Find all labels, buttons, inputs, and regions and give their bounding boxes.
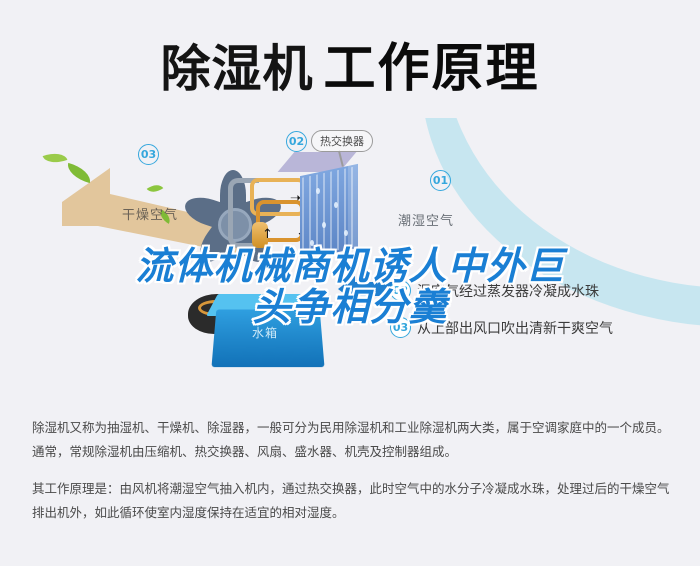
water-tank-label: 水箱 [252, 324, 278, 341]
water-droplet-icon [334, 202, 338, 208]
process-step-item: 02 湿空气经过蒸发器冷凝成水珠 [390, 280, 690, 301]
badge-02: 02 [286, 131, 307, 152]
diagram-label-02: 02热交换器 [286, 130, 373, 152]
badge-step: 02 [390, 280, 411, 301]
process-step-item: 03 从上部出风口吹出清新干爽空气 [390, 317, 690, 338]
page-root: 除湿机工作原理 [0, 0, 700, 566]
water-droplet-icon [310, 240, 314, 246]
badge-03: 03 [138, 144, 159, 165]
heat-exchanger-callout: 热交换器 [311, 130, 373, 152]
paragraph-principle: 其工作原理是：由风机将潮湿空气抽入机内，通过热交换器，此时空气中的水分子冷凝成水… [32, 477, 672, 526]
diagram-label-01: 01 [430, 170, 451, 191]
flow-arrow-up-icon: ↑ [262, 228, 273, 241]
water-droplet-icon [322, 222, 326, 228]
paragraph-definition: 除湿机又称为抽湿机、干燥机、除湿器，一般可分为民用除湿机和工业除湿机两大类，属于… [32, 416, 672, 465]
process-step-list: 02 湿空气经过蒸发器冷凝成水珠 03 从上部出风口吹出清新干爽空气 [390, 280, 690, 354]
water-droplet-icon [344, 230, 348, 236]
page-title: 除湿机工作原理 [0, 26, 700, 101]
title-part-1: 除湿机 [160, 40, 313, 98]
dehumidifier-diagram: ➝ ↑ ↓ 水箱 03 02热交换器 01 干燥空气 潮湿空气 [0, 118, 700, 408]
water-droplet-icon [316, 188, 320, 194]
article-body: 除湿机又称为抽湿机、干燥机、除湿器，一般可分为民用除湿机和工业除湿机两大类，属于… [32, 416, 672, 538]
diagram-label-03: 03 [138, 144, 159, 165]
process-step-label: 湿空气经过蒸发器冷凝成水珠 [417, 281, 599, 301]
moist-air-text: 潮湿空气 [398, 210, 454, 229]
process-step-label: 从上部出风口吹出清新干爽空气 [417, 318, 613, 338]
dry-air-text: 干燥空气 [122, 204, 178, 223]
badge-01: 01 [430, 170, 451, 191]
badge-step: 03 [390, 317, 411, 338]
title-part-2: 工作原理 [323, 39, 539, 99]
